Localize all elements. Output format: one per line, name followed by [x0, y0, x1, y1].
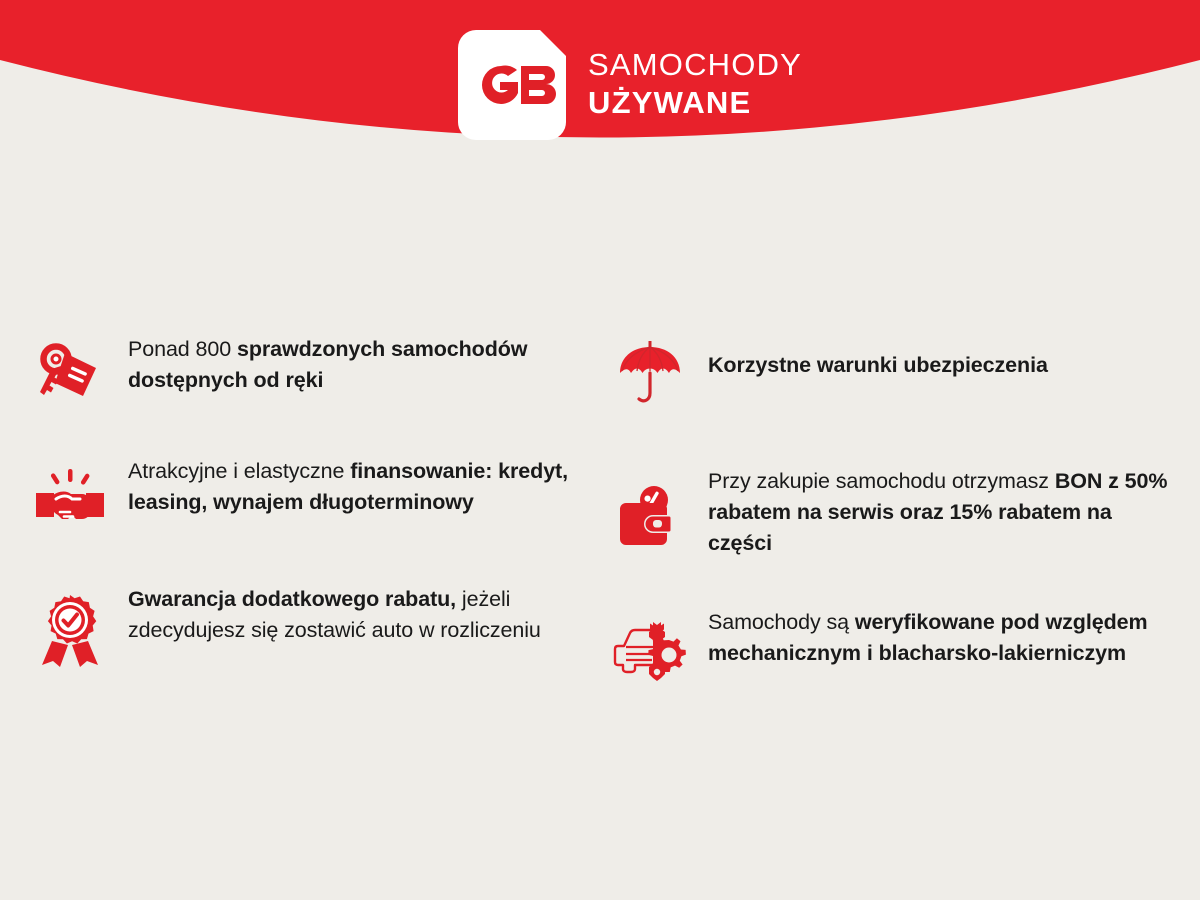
car-keys-icon: [30, 334, 110, 414]
feature-item-insurance: Korzystne warunki ubezpieczenia: [610, 336, 1170, 412]
features-grid: Ponad 800 sprawdzonych samochodów dostęp…: [0, 330, 1200, 691]
car-service-icon: [610, 611, 690, 691]
wallet-percent-icon: [610, 478, 690, 558]
feature-text: Korzystne warunki ubezpieczenia: [708, 336, 1170, 381]
handshake-icon: [30, 460, 110, 540]
feature-text: Ponad 800 sprawdzonych samochodów dostęp…: [128, 330, 590, 396]
brand-line-samochody: SAMOCHODY: [588, 49, 802, 80]
feature-text: Gwarancja dodatkowego rabatu, jeżeli zde…: [128, 580, 590, 646]
feature-item-cars-available: Ponad 800 sprawdzonych samochodów dostęp…: [30, 330, 590, 414]
brand-line-uzywane: UŻYWANE: [588, 87, 802, 118]
brand-wordmark: SAMOCHODY UŻYWANE: [588, 49, 802, 122]
feature-text: Atrakcyjne i elastyczne finansowanie: kr…: [128, 452, 590, 518]
features-column-left: Ponad 800 sprawdzonych samochodów dostęp…: [30, 330, 590, 691]
brand-lockup: SAMOCHODY UŻYWANE: [458, 30, 802, 140]
feature-strong-text: Gwarancja dodatkowego rabatu,: [128, 587, 456, 611]
award-badge-icon: [30, 590, 110, 670]
features-column-right: Korzystne warunki ubezpieczenia: [610, 330, 1170, 691]
feature-lead-text: Przy zakupie samochodu otrzymasz: [708, 469, 1055, 493]
feature-lead-text: Atrakcyjne i elastyczne: [128, 459, 350, 483]
feature-item-financing: Atrakcyjne i elastyczne finansowanie: kr…: [30, 452, 590, 540]
umbrella-icon: [610, 332, 690, 412]
feature-text: Samochody są weryfikowane pod względem m…: [708, 603, 1170, 669]
feature-strong-text: Korzystne warunki ubezpieczenia: [708, 353, 1048, 377]
feature-text: Przy zakupie samochodu otrzymasz BON z 5…: [708, 462, 1170, 559]
feature-item-vehicle-inspection: Samochody są weryfikowane pod względem m…: [610, 603, 1170, 691]
feature-lead-text: Samochody są: [708, 610, 855, 634]
header-banner: SAMOCHODY UŻYWANE: [0, 0, 1200, 200]
gb-logo-mark: [458, 30, 566, 140]
feature-item-discount-voucher: Przy zakupie samochodu otrzymasz BON z 5…: [610, 462, 1170, 559]
feature-lead-text: Ponad 800: [128, 337, 237, 361]
feature-item-trade-in-guarantee: Gwarancja dodatkowego rabatu, jeżeli zde…: [30, 580, 590, 670]
